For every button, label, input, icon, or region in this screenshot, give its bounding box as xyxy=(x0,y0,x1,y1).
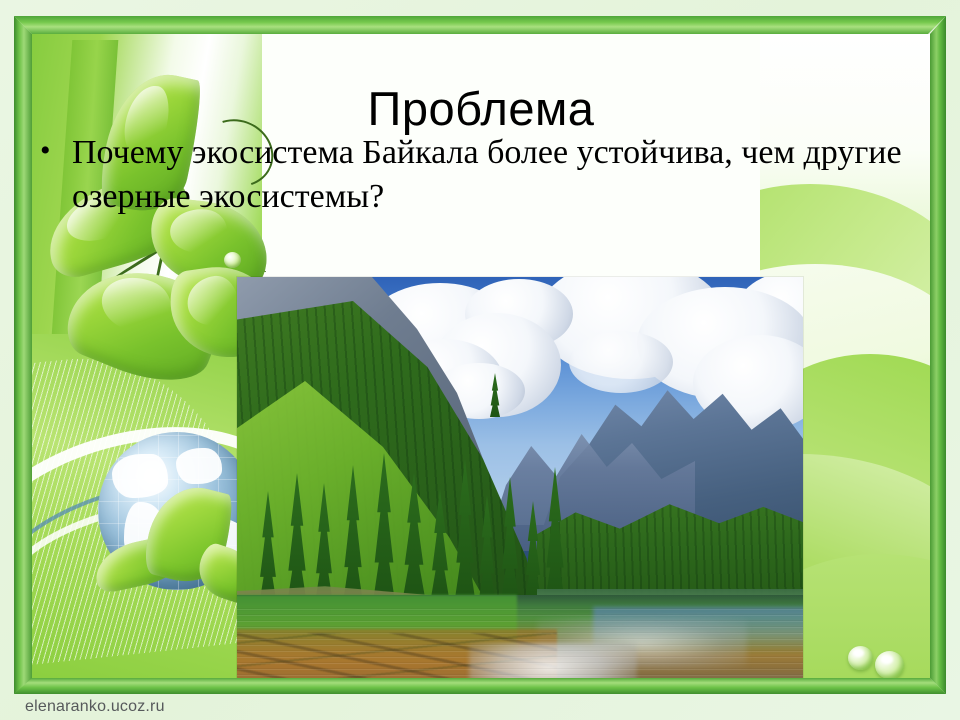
slide-title: Проблема xyxy=(32,84,930,133)
frame-right-edge xyxy=(930,16,946,694)
slide-canvas: Проблема • Почему экосистема Байкала бол… xyxy=(32,34,930,678)
leaf-highlight xyxy=(94,267,179,343)
frame-top-edge xyxy=(14,16,946,34)
slide-root: Проблема • Почему экосистема Байкала бол… xyxy=(0,0,960,720)
photo-water-ripples xyxy=(237,607,803,678)
site-watermark: elenaranko.ucoz.ru xyxy=(25,698,165,716)
leaf-water-droplet-icon xyxy=(224,252,241,268)
photo-cloud xyxy=(569,331,673,393)
bullet-marker: • xyxy=(40,131,72,170)
globe-continent-shape xyxy=(112,454,168,498)
leaf-highlight xyxy=(184,274,240,328)
water-droplet-icon xyxy=(848,646,873,670)
lake-landscape-photo xyxy=(237,277,803,678)
globe-continent-shape xyxy=(176,448,222,484)
frame-bottom-edge xyxy=(14,678,946,694)
frame-left-edge xyxy=(14,16,32,694)
slide-bullet-item: • Почему экосистема Байкала более устойч… xyxy=(40,131,926,219)
water-droplet-icon xyxy=(875,651,904,678)
slide-body-text: Почему экосистема Байкала более устойчив… xyxy=(72,131,926,219)
